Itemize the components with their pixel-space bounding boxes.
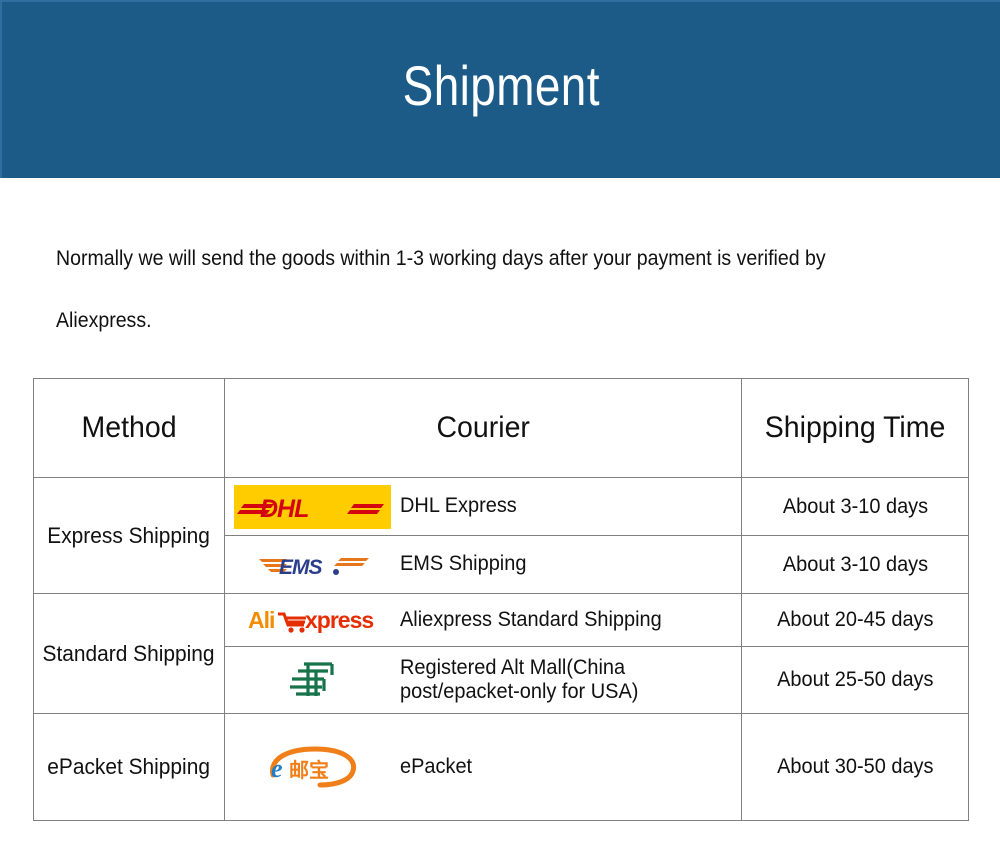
shipping-time-cell-ems: About 3-10 days [742, 536, 969, 594]
method-label-express: Express Shipping [48, 523, 211, 549]
courier-cell-china-post: Registered Alt Mall(China post/epacket-o… [225, 647, 742, 714]
shipping-time-cell-china-post: About 25-50 days [742, 647, 969, 714]
method-cell-express: Express Shipping [34, 478, 225, 594]
column-header-method-label: Method [81, 411, 176, 445]
ems-logo-wrap: EMS [225, 548, 400, 582]
method-label-epacket: ePacket Shipping [48, 754, 211, 780]
courier-label-epacket: ePacket [400, 755, 472, 779]
svg-text:EMS: EMS [279, 556, 323, 579]
aliexpress-logo: Ali xpress [248, 606, 378, 634]
svg-text:Ali: Ali [248, 607, 274, 633]
method-cell-standard: Standard Shipping [34, 594, 225, 714]
shipping-methods-table: Method Courier Shipping Time Express Shi… [33, 378, 969, 821]
courier-cell-dhl: DHL DHL Express [225, 478, 742, 536]
svg-text:DHL: DHL [260, 495, 308, 523]
column-header-courier-label: Courier [436, 411, 529, 445]
shipping-time-cell-epacket: About 30-50 days [742, 714, 969, 821]
method-cell-epacket: ePacket Shipping [34, 714, 225, 821]
courier-name-china-post-line2: post/epacket-only for USA) [400, 680, 638, 704]
aliexpress-logo-wrap: Ali xpress [225, 606, 400, 634]
courier-name-ems: EMS Shipping [400, 552, 526, 575]
china-post-logo [286, 658, 340, 702]
shipping-time-ems: About 3-10 days [782, 553, 927, 577]
svg-text:邮宝: 邮宝 [289, 758, 329, 782]
shipping-time-cell-dhl: About 3-10 days [742, 478, 969, 536]
courier-cell-aliexpress: Ali xpress Aliexpress Standa [225, 594, 742, 647]
svg-text:xpress: xpress [305, 607, 373, 633]
shipping-time-china-post: About 25-50 days [777, 668, 933, 692]
column-header-shipping-time: Shipping Time [742, 379, 969, 478]
china-post-logo-wrap [225, 658, 400, 702]
courier-label-dhl: DHL Express [400, 494, 517, 518]
courier-name-aliexpress: Aliexpress Standard Shipping [400, 608, 662, 631]
method-label-standard: Standard Shipping [43, 641, 215, 667]
shipping-time-dhl: About 3-10 days [782, 495, 927, 519]
page-title: Shipment [402, 58, 599, 122]
table-row: Express Shipping DHL [34, 478, 969, 536]
shipping-time-epacket: About 30-50 days [777, 755, 933, 779]
table-row: Standard Shipping Ali [34, 594, 969, 647]
dhl-logo-wrap: DHL [225, 485, 400, 529]
table-row: ePacket Shipping e 邮宝 ePacket [34, 714, 969, 821]
courier-name-epacket: ePacket [400, 755, 472, 778]
courier-label-china-post: Registered Alt Mall(China post/epacket-o… [400, 656, 638, 704]
intro-paragraph: Normally we will send the goods within 1… [56, 228, 893, 352]
column-header-method: Method [34, 379, 225, 478]
page-header-banner: Shipment [0, 0, 1000, 178]
dhl-logo: DHL [234, 485, 391, 529]
column-header-courier: Courier [225, 379, 742, 478]
courier-cell-ems: EMS EMS Shipping [225, 536, 742, 594]
table-header-row: Method Courier Shipping Time [34, 379, 969, 478]
ems-logo: EMS [257, 548, 369, 582]
svg-text:e: e [271, 754, 283, 783]
column-header-shipping-time-label: Shipping Time [765, 411, 946, 445]
courier-name-dhl: DHL Express [400, 494, 517, 517]
courier-name-china-post: Registered Alt Mall(China [400, 656, 625, 679]
epacket-logo-wrap: e 邮宝 [225, 745, 400, 789]
courier-label-ems: EMS Shipping [400, 552, 526, 576]
shipping-time-aliexpress: About 20-45 days [777, 608, 933, 632]
courier-cell-epacket: e 邮宝 ePacket [225, 714, 742, 821]
epacket-logo: e 邮宝 [265, 745, 361, 789]
shipping-time-cell-aliexpress: About 20-45 days [742, 594, 969, 647]
courier-label-aliexpress: Aliexpress Standard Shipping [400, 608, 662, 632]
